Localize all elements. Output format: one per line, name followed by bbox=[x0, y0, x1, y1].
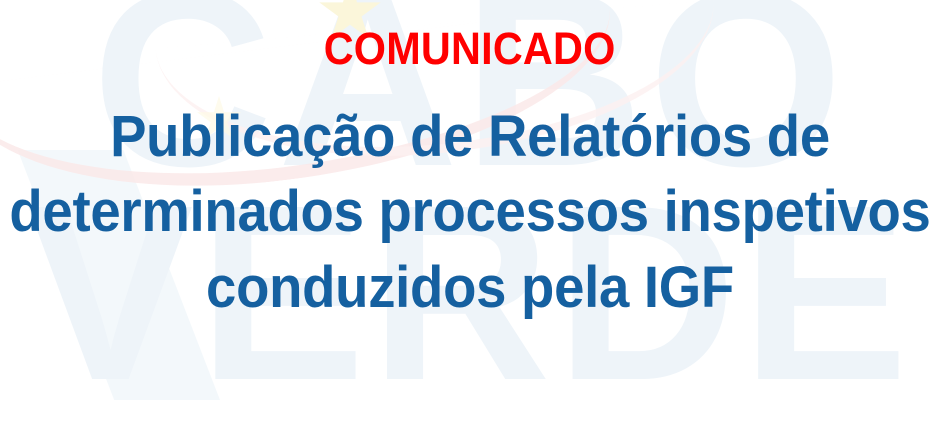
headline-line-2: determinados processos inspetivos bbox=[9, 174, 930, 249]
comunicado-banner: CABO VERDE COMUNICADO Publicação de Rela… bbox=[0, 0, 940, 436]
banner-content: COMUNICADO Publicação de Relatórios de d… bbox=[0, 0, 940, 436]
headline-line-1: Publicação de Relatórios de bbox=[9, 99, 930, 174]
banner-headline: Publicação de Relatórios de determinados… bbox=[9, 99, 930, 325]
headline-line-3: conduzidos pela IGF bbox=[9, 250, 930, 325]
banner-kicker-label: COMUNICADO bbox=[324, 26, 616, 71]
